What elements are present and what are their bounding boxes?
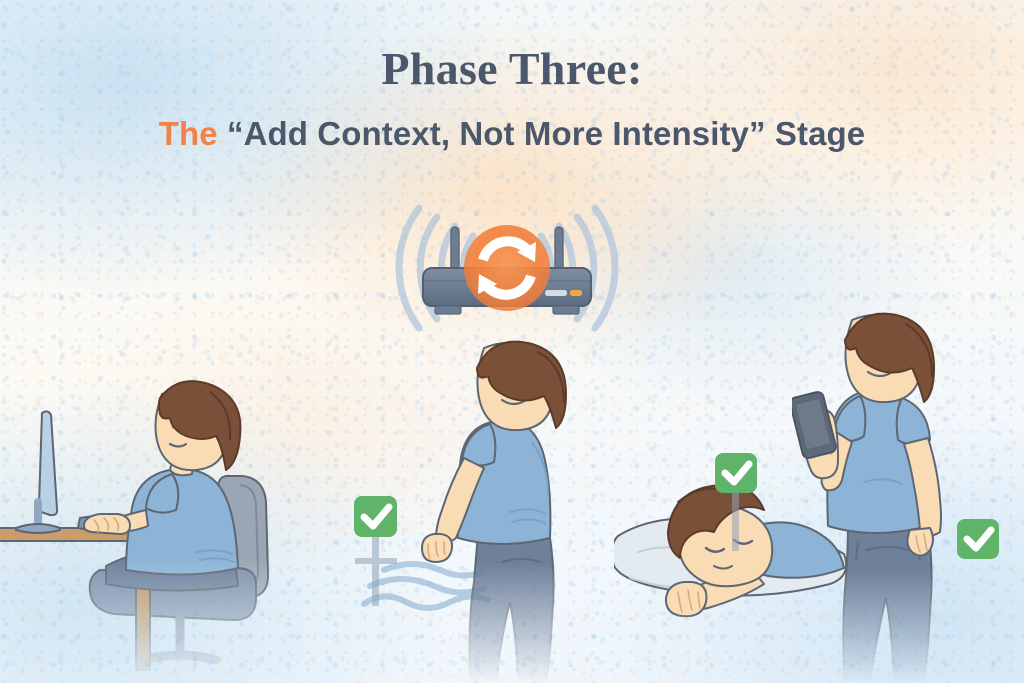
refresh-sync-icon xyxy=(464,225,550,311)
check-badge-sleep xyxy=(713,451,759,551)
green-check-badge-icon xyxy=(715,453,757,493)
check-badge-swing xyxy=(352,494,400,606)
woman-standing-swinging-arm xyxy=(422,342,566,682)
router-wifi-refresh-group xyxy=(377,206,637,326)
page-subtitle: The “Add Context, Not More Intensity” St… xyxy=(0,115,1024,153)
subtitle-rest: “Add Context, Not More Intensity” Stage xyxy=(218,115,866,152)
scene-woman-arm-swing xyxy=(392,330,598,683)
badge-post xyxy=(355,534,397,606)
badge-post xyxy=(732,489,739,551)
infographic-canvas: Phase Three: The “Add Context, Not More … xyxy=(0,0,1024,683)
green-check-badge-icon xyxy=(957,519,999,559)
page-title: Phase Three: xyxy=(0,44,1024,95)
woman-typing xyxy=(84,381,241,590)
woman-standing-with-phone xyxy=(789,314,941,680)
scene-woman-at-desk xyxy=(0,352,310,683)
heading-block: Phase Three: The “Add Context, Not More … xyxy=(0,44,1024,153)
scene-woman-with-phone xyxy=(792,306,1024,683)
computer-monitor xyxy=(16,411,60,533)
green-check-badge-icon xyxy=(354,496,397,537)
subtitle-accent-word: The xyxy=(159,115,218,152)
check-badge-phone xyxy=(955,517,1001,563)
smartphone xyxy=(789,391,837,459)
